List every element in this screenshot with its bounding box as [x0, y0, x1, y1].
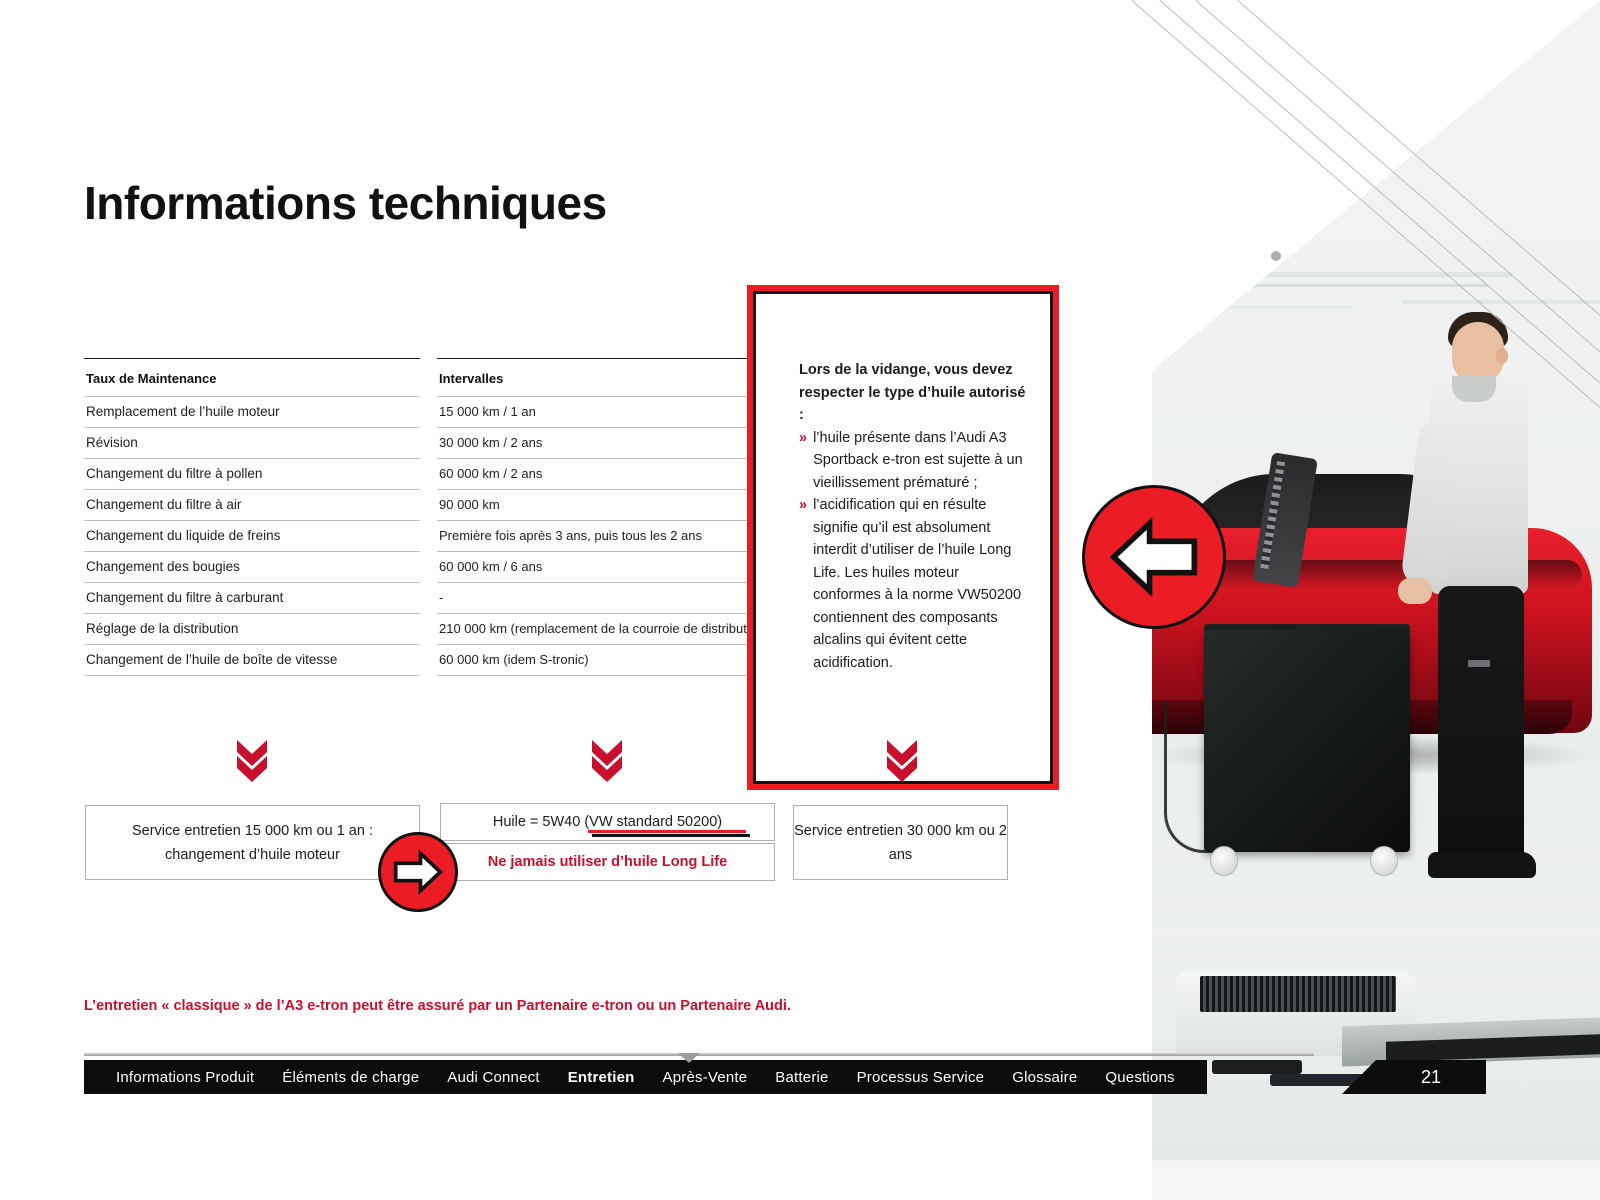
oil-warning-callout: Lors de la vidange, vous devez respecter… [747, 285, 1059, 790]
table-row: 30 000 km / 2 ans [437, 427, 775, 458]
table-row: 60 000 km / 2 ans [437, 458, 775, 489]
technician-hand [1398, 578, 1432, 604]
table-row: 60 000 km (idem S-tronic) [437, 644, 775, 676]
active-tab-caret-icon [678, 1053, 700, 1063]
maintenance-table-tasks: Taux de Maintenance Remplacement de l’hu… [84, 358, 420, 676]
maintenance-table-intervals: Intervalles 15 000 km / 1 an 30 000 km /… [437, 358, 775, 676]
decorative-dot [1271, 251, 1281, 261]
nav-item-l-ments-de-charge[interactable]: Éléments de charge [268, 1069, 433, 1086]
table-row: Changement du filtre à air [84, 489, 420, 520]
nav-item-apr-s-vente[interactable]: Après-Vente [649, 1069, 762, 1086]
oil-spec-underline-black [592, 834, 750, 837]
callout-heading: Lors de la vidange, vous devez respecter… [799, 359, 1029, 427]
table-row: 210 000 km (remplacement de la courroie … [437, 613, 775, 644]
table-row: Remplacement de l’huile moteur [84, 396, 420, 427]
technician-shoe [1428, 852, 1536, 878]
table-row: Changement de l’huile de boîte de vitess… [84, 644, 420, 676]
table-row: Révision [84, 427, 420, 458]
nav-item-batterie[interactable]: Batterie [761, 1069, 842, 1086]
oil-spec-underline-red [588, 830, 746, 833]
double-chevron-down-icon [235, 738, 269, 782]
battery-pack-photo [1152, 930, 1600, 1160]
technician-collar [1452, 376, 1496, 402]
tool-cabinet [1204, 630, 1410, 852]
trouser-logo [1468, 660, 1490, 667]
cabinet-caster [1370, 846, 1398, 876]
nav-item-entretien[interactable]: Entretien [554, 1069, 649, 1086]
callout-bullet: » l’huile présente dans l’Audi A3 Sportb… [799, 427, 1029, 495]
technician-ear [1496, 348, 1508, 364]
wall-detail [1402, 300, 1600, 304]
table-row: - [437, 582, 775, 613]
pack-foot [1212, 1060, 1302, 1074]
circle-arrow-right-icon [378, 832, 458, 912]
nav-item-glossaire[interactable]: Glossaire [998, 1069, 1091, 1086]
callout-bullet-text: l’huile présente dans l’Audi A3 Sportbac… [813, 427, 1029, 495]
double-chevron-down-icon [590, 738, 624, 782]
pack-connector-fins [1200, 976, 1396, 1012]
service-15000-box: Service entretien 15 000 km ou 1 an : ch… [85, 805, 420, 880]
table-row: Réglage de la distribution [84, 613, 420, 644]
page-title: Informations techniques [84, 176, 607, 230]
page-number-badge: 21 [1376, 1060, 1486, 1094]
page-number-slash [1342, 1060, 1376, 1094]
callout-text: Lors de la vidange, vous devez respecter… [799, 359, 1029, 674]
page-number: 21 [1421, 1067, 1441, 1088]
nav-item-questions[interactable]: Questions [1091, 1069, 1188, 1086]
cabinet-caster [1210, 846, 1238, 876]
no-longlife-box: Ne jamais utiliser d’huile Long Life [440, 843, 775, 881]
table-row: 60 000 km / 6 ans [437, 551, 775, 582]
nav-item-processus-service[interactable]: Processus Service [843, 1069, 999, 1086]
callout-bullet-text: l’acidification qui en résulte signifie … [813, 494, 1029, 674]
double-chevron-down-icon [885, 738, 919, 782]
service-30000-box: Service entretien 30 000 km ou 2 ans [793, 805, 1008, 880]
footnote-text: L’entretien « classique » de l’A3 e-tron… [84, 998, 791, 1014]
column-header-intervals: Intervalles [437, 358, 775, 396]
table-row: Première fois après 3 ans, puis tous les… [437, 520, 775, 551]
bullet-marker-icon: » [799, 494, 807, 674]
bullet-marker-icon: » [799, 427, 807, 495]
table-row: Changement des bougies [84, 551, 420, 582]
table-row: Changement du liquide de freins [84, 520, 420, 551]
nav-item-informations-produit[interactable]: Informations Produit [102, 1069, 268, 1086]
table-row: 90 000 km [437, 489, 775, 520]
table-row: Changement du filtre à carburant [84, 582, 420, 613]
table-row: 15 000 km / 1 an [437, 396, 775, 427]
section-navbar[interactable]: Informations ProduitÉléments de chargeAu… [84, 1060, 1207, 1094]
circle-arrow-left-icon [1082, 485, 1226, 629]
slide-page: Informations techniques Taux de Maintena… [0, 0, 1600, 1200]
column-header-tasks: Taux de Maintenance [84, 358, 420, 396]
callout-bullet: » l’acidification qui en résulte signifi… [799, 494, 1029, 674]
table-row: Changement du filtre à pollen [84, 458, 420, 489]
technician-legs [1438, 586, 1524, 866]
nav-item-audi-connect[interactable]: Audi Connect [433, 1069, 553, 1086]
